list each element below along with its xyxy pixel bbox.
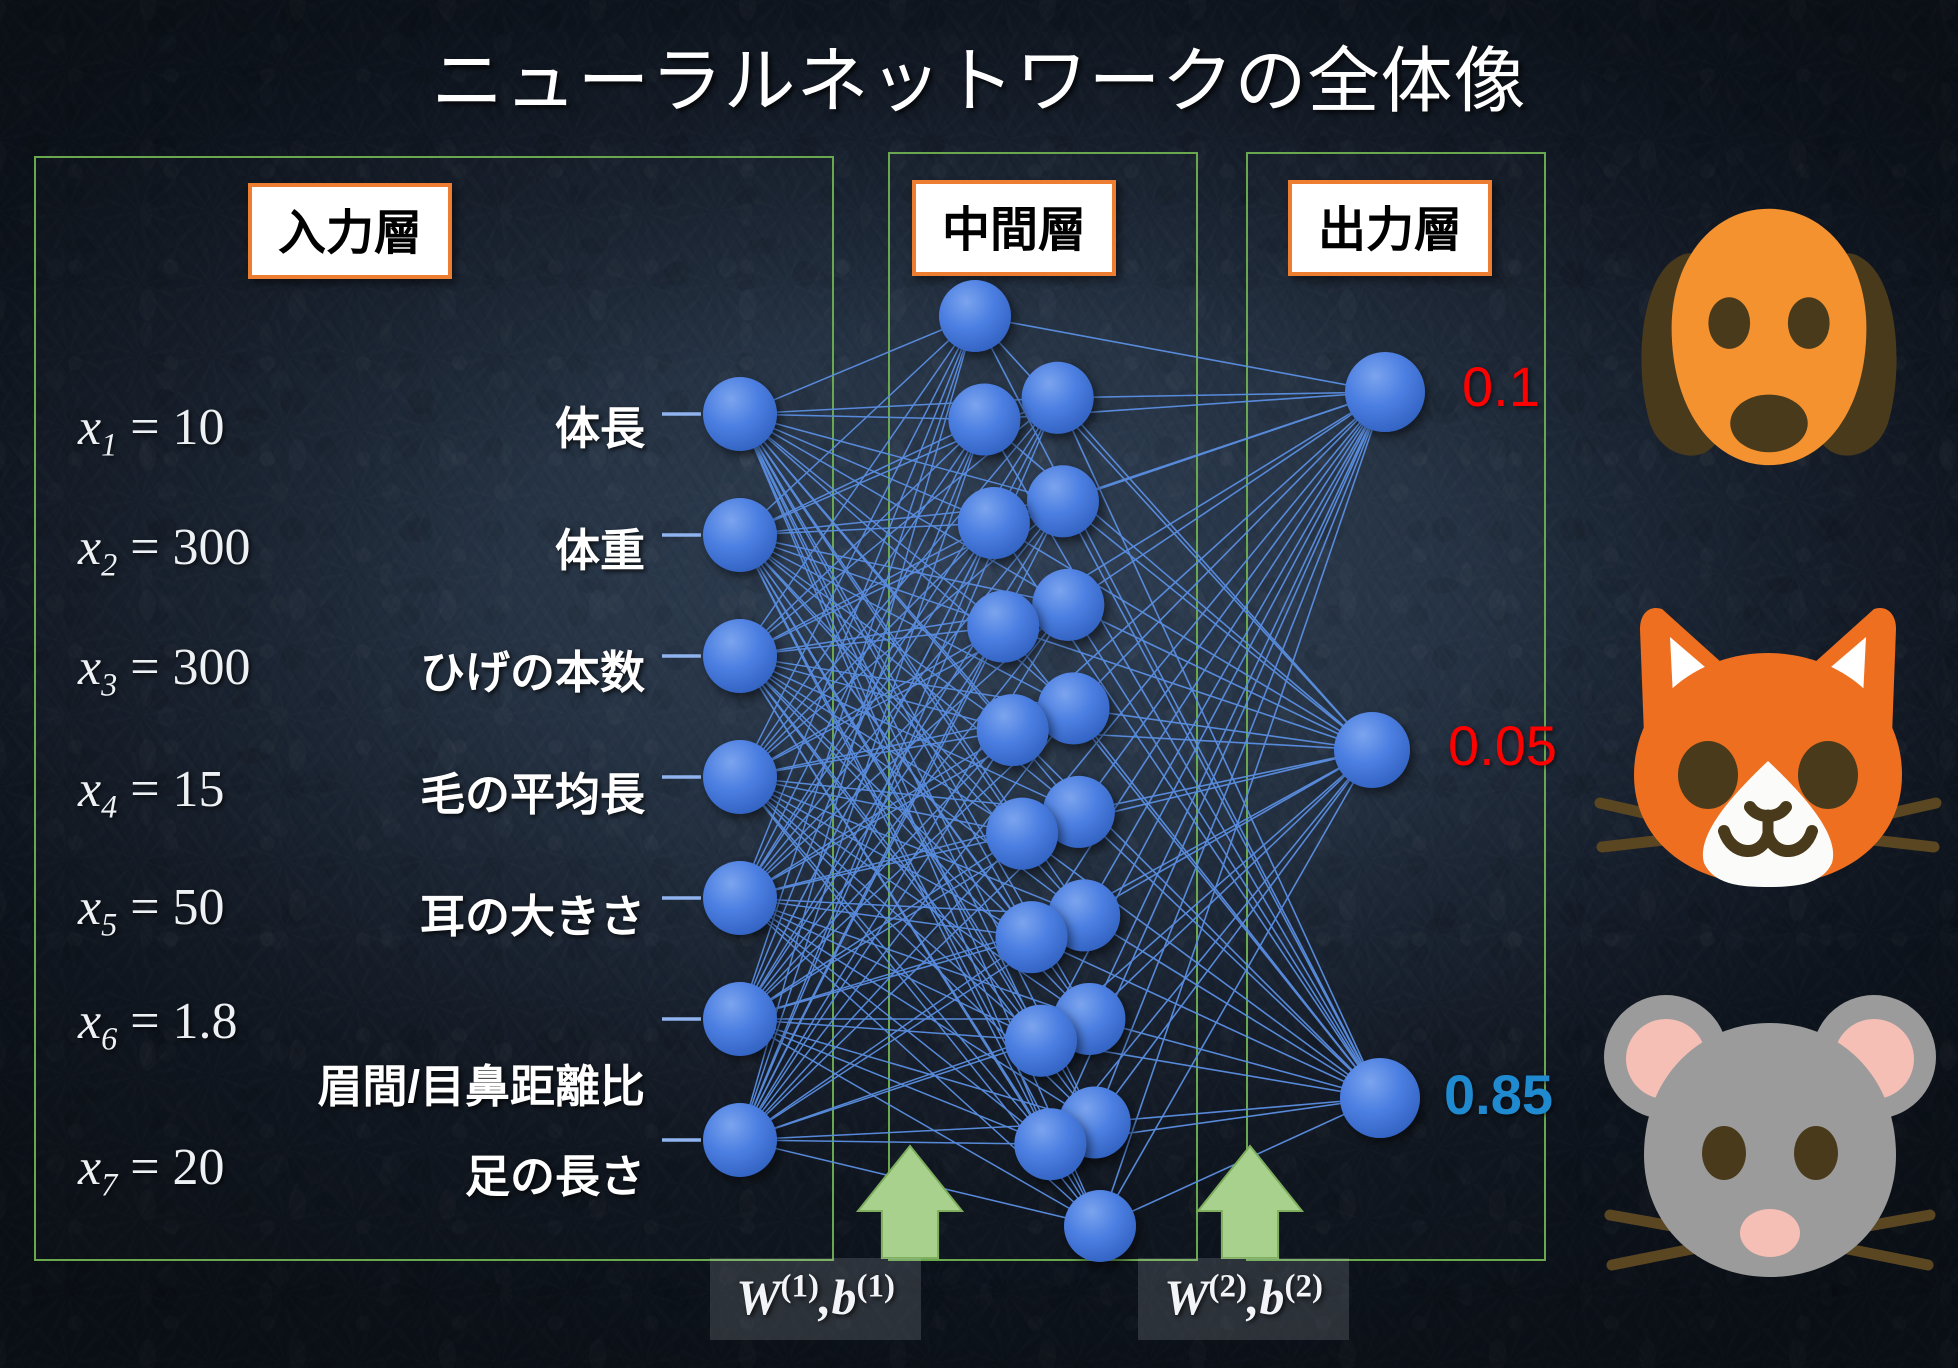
hidden-node-4 <box>1027 465 1099 537</box>
hidden-node-2 <box>1022 362 1094 434</box>
output-value-cat: 0.05 <box>1448 713 1557 778</box>
dog-face-icon <box>1610 188 1928 478</box>
input-node-5 <box>703 861 777 935</box>
up-arrow-icon <box>1198 1146 1302 1258</box>
output-node-3 <box>1340 1058 1420 1138</box>
input-node-6 <box>703 982 777 1056</box>
weight-bias-label-layer1: W(1),b(1) <box>710 1258 921 1340</box>
hidden-node-1 <box>939 280 1011 352</box>
input-node-2 <box>703 498 777 572</box>
hidden-node-13 <box>995 901 1067 973</box>
up-arrow-icon <box>858 1146 962 1258</box>
hidden-node-7 <box>967 591 1039 663</box>
hidden-node-6 <box>1032 569 1104 641</box>
hidden-node-17 <box>1014 1108 1086 1180</box>
slide-canvas: ニューラルネットワークの全体像 入力層 中間層 出力層 x1 = 10 x2 =… <box>0 0 1958 1368</box>
hidden-node-3 <box>948 384 1020 456</box>
output-node-1 <box>1345 352 1425 432</box>
input-node-1 <box>703 377 777 451</box>
weight-bias-label-layer2: W(2),b(2) <box>1138 1258 1349 1340</box>
hidden-node-11 <box>986 798 1058 870</box>
mouse-face-icon <box>1596 965 1944 1305</box>
output-node-2 <box>1334 712 1410 788</box>
hidden-node-9 <box>977 694 1049 766</box>
hidden-node-18 <box>1064 1190 1136 1262</box>
hidden-node-5 <box>958 487 1030 559</box>
hidden-node-15 <box>1005 1005 1077 1077</box>
output-value-dog: 0.1 <box>1462 354 1540 419</box>
input-node-4 <box>703 740 777 814</box>
input-node-3 <box>703 619 777 693</box>
output-value-mouse: 0.85 <box>1444 1062 1553 1127</box>
input-node-7 <box>703 1103 777 1177</box>
cat-face-icon <box>1592 585 1944 905</box>
